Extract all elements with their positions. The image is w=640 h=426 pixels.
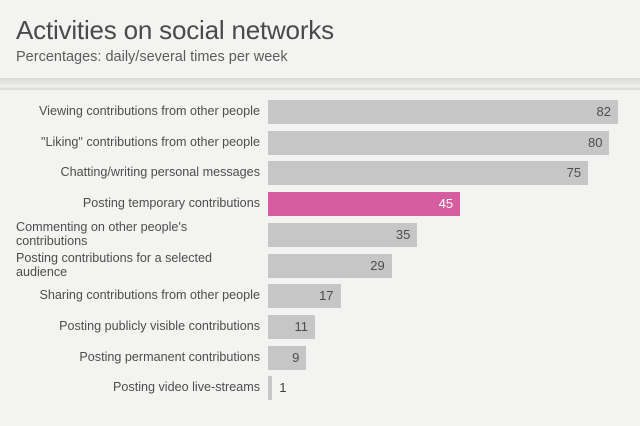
chart-container: Activities on social networks Percentage… <box>0 0 640 426</box>
bar-row: Posting contributions for a selectedaudi… <box>0 254 640 278</box>
bar-row: Posting temporary contributions45 <box>0 192 640 216</box>
bar-row: Viewing contributions from other people8… <box>0 100 640 124</box>
bar-value-label: 35 <box>396 223 410 247</box>
bar-track: 9 <box>268 346 306 370</box>
bar-label-line: Posting contributions for a selected <box>16 252 260 266</box>
bar-label: Posting permanent contributions <box>16 351 260 365</box>
page-title: Activities on social networks <box>16 14 640 46</box>
bar-row: Chatting/writing personal messages75 <box>0 161 640 185</box>
bar-row: Posting video live-streams1 <box>0 376 640 400</box>
bar-track: 75 <box>268 161 588 185</box>
bar-label: Sharing contributions from other people <box>16 289 260 303</box>
bar-label-line: contributions <box>16 235 260 249</box>
bar-track: 29 <box>268 254 392 278</box>
bar-row: Commenting on other people'scontribution… <box>0 223 640 247</box>
bar-label-line: audience <box>16 266 260 280</box>
bar-value-label: 9 <box>292 346 299 370</box>
bar-value-label: 45 <box>439 192 453 216</box>
bar-track: 35 <box>268 223 417 247</box>
bar-label: Commenting on other people'scontribution… <box>16 221 260 248</box>
bar-track: 17 <box>268 284 341 308</box>
bar-value-label: 17 <box>319 284 333 308</box>
bar-track: 82 <box>268 100 618 124</box>
bar[interactable] <box>268 376 272 400</box>
chart-subtitle: Percentages: daily/several times per wee… <box>16 47 640 67</box>
bar-value-label: 1 <box>279 376 286 400</box>
bar-track: 1 <box>268 376 272 400</box>
bar-value-label: 29 <box>370 254 384 278</box>
bar-label: Posting video live-streams <box>16 381 260 395</box>
bar-row: Posting publicly visible contributions11 <box>0 315 640 339</box>
bar-value-label: 75 <box>567 161 581 185</box>
bar-row: "Liking" contributions from other people… <box>0 131 640 155</box>
bar-track: 45 <box>268 192 460 216</box>
bar-label: Posting contributions for a selectedaudi… <box>16 252 260 279</box>
bar-label: Posting publicly visible contributions <box>16 320 260 334</box>
bar-label: Posting temporary contributions <box>16 197 260 211</box>
bar[interactable] <box>268 161 588 185</box>
bar-label: "Liking" contributions from other people <box>16 136 260 150</box>
bar-label-line: Commenting on other people's <box>16 221 260 235</box>
bar-value-label: 11 <box>294 315 308 339</box>
bar[interactable] <box>268 100 618 124</box>
bar-value-label: 82 <box>597 100 611 124</box>
bar-row: Posting permanent contributions9 <box>0 346 640 370</box>
bar-chart-plot-area: Viewing contributions from other people8… <box>0 90 640 426</box>
bar[interactable] <box>268 346 306 370</box>
chart-header: Activities on social networks Percentage… <box>0 0 640 78</box>
bar-label: Chatting/writing personal messages <box>16 166 260 180</box>
bar-highlighted[interactable] <box>268 192 460 216</box>
bar-track: 11 <box>268 315 315 339</box>
header-divider <box>0 78 640 90</box>
bar-label: Viewing contributions from other people <box>16 105 260 119</box>
bar-track: 80 <box>268 131 609 155</box>
bar[interactable] <box>268 131 609 155</box>
bar-row: Sharing contributions from other people1… <box>0 284 640 308</box>
bar-value-label: 80 <box>588 131 602 155</box>
